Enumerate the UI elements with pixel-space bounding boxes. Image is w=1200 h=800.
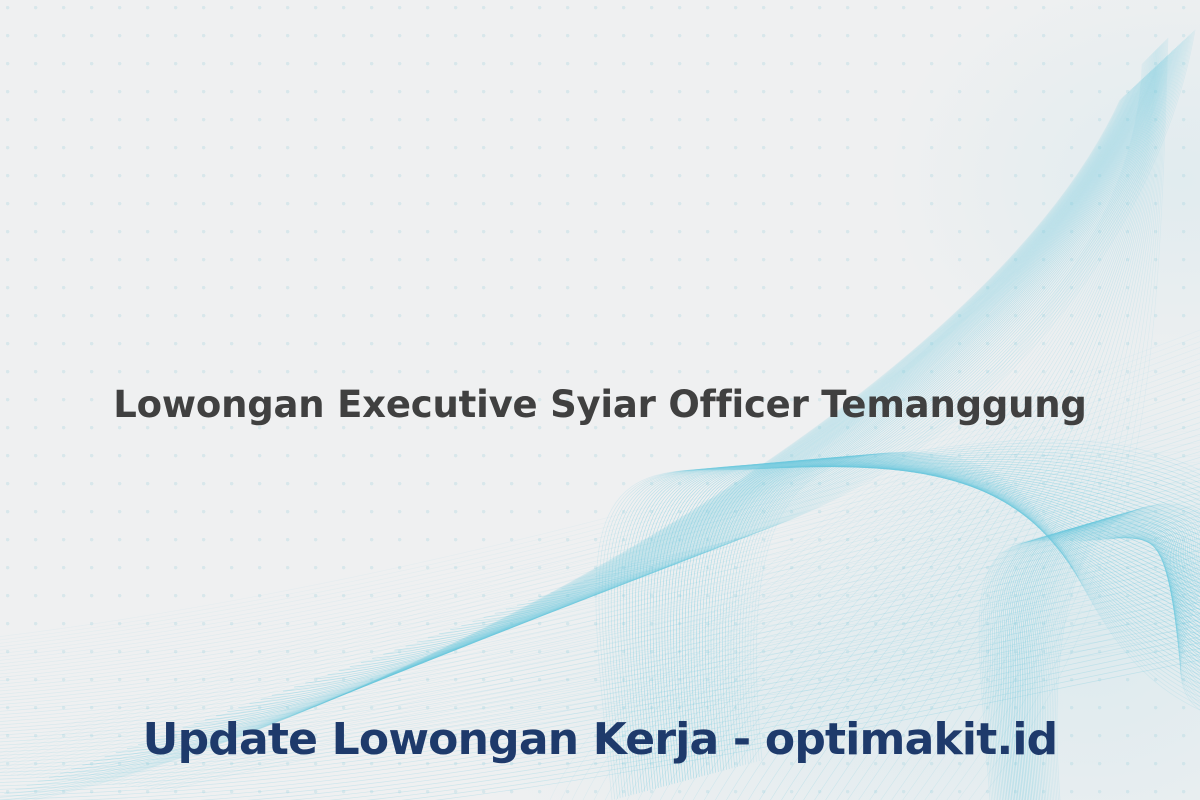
og-banner: Lowongan Executive Syiar Officer Temangg…: [0, 0, 1200, 800]
page-title: Lowongan Executive Syiar Officer Temangg…: [0, 373, 1200, 437]
brand-footer-text: Update Lowongan Kerja - optimakit.id: [0, 705, 1200, 775]
